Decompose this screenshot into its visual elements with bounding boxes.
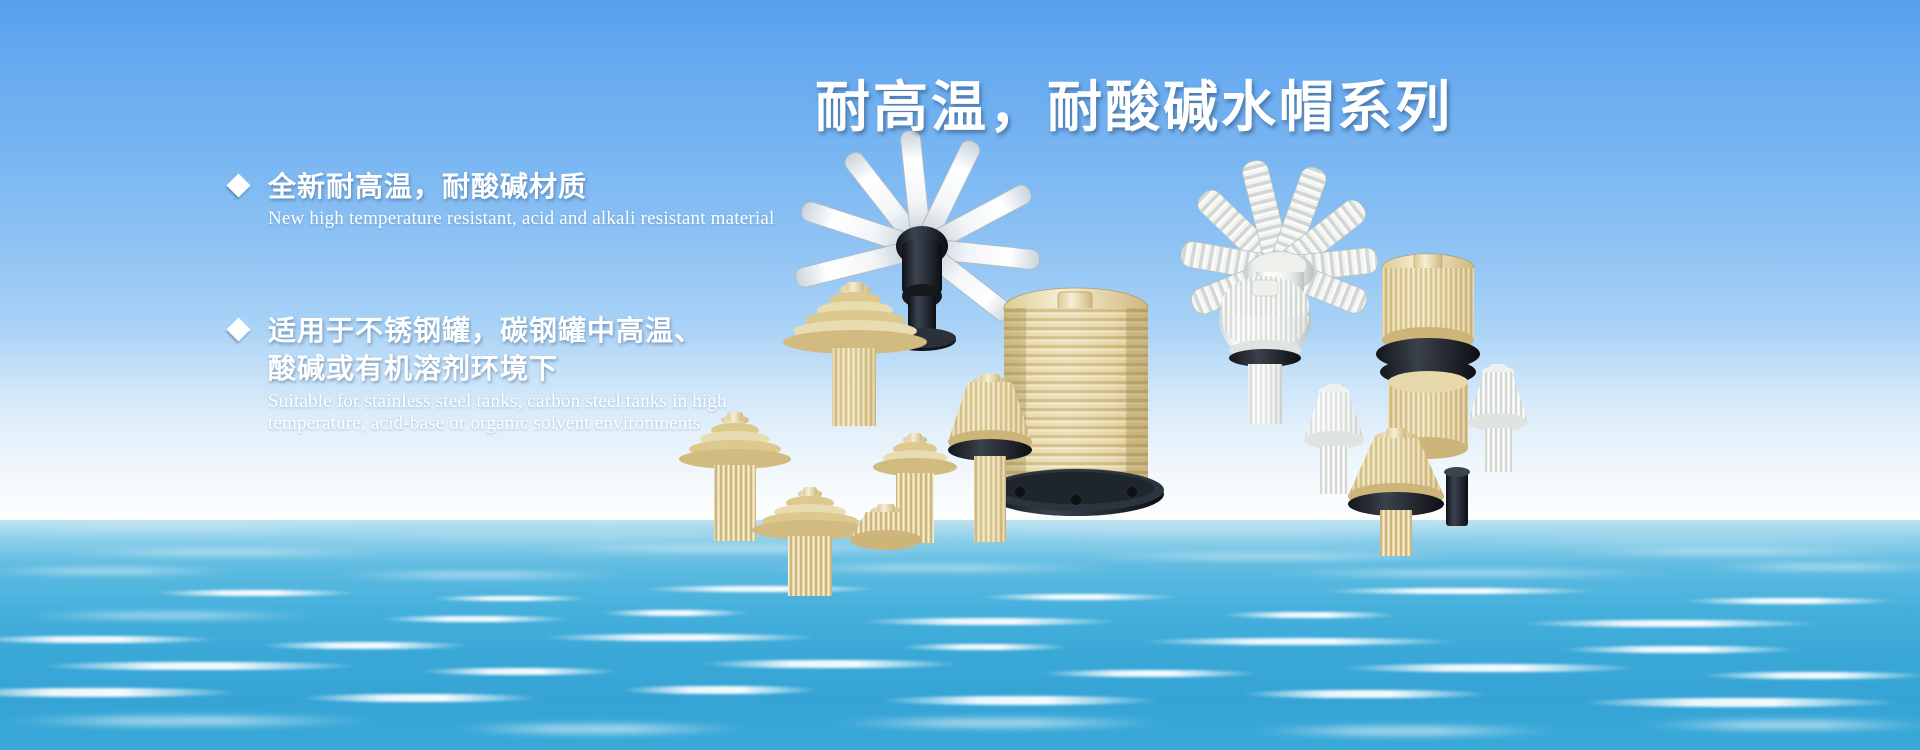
feature-2-cn-line1: 适用于不锈钢罐，碳钢罐中高温、 bbox=[268, 312, 703, 350]
dark-stem-right bbox=[1444, 467, 1470, 526]
small-cap-white-bottom bbox=[1304, 384, 1364, 494]
water-cap-product-cluster bbox=[680, 120, 1560, 540]
feature-2-en-line1: Suitable for stainless steel tanks, carb… bbox=[268, 391, 727, 413]
feature-item-2: 适用于不锈钢罐，碳钢罐中高温、 酸碱或有机溶剂环境下 Suitable for … bbox=[230, 312, 727, 435]
feature-2-cn-line2: 酸碱或有机溶剂环境下 bbox=[268, 350, 727, 388]
promo-banner: 耐高温，耐酸碱水帽系列 全新耐高温，耐酸碱材质 New high tempera… bbox=[0, 0, 1920, 750]
feature-1-cn-line1: 全新耐高温，耐酸碱材质 bbox=[268, 168, 587, 206]
feature-2-en-line2: temperature, acid-base or organic solven… bbox=[268, 413, 727, 435]
diamond-bullet-icon bbox=[226, 317, 250, 341]
water-background bbox=[0, 520, 1920, 750]
feature-1-en-line1: New high temperature resistant, acid and… bbox=[268, 208, 775, 230]
feature-item-1: 全新耐高温，耐酸碱材质 New high temperature resista… bbox=[230, 168, 775, 230]
diamond-bullet-icon bbox=[226, 173, 250, 197]
layered-cap-a bbox=[783, 282, 927, 426]
page-title: 耐高温，耐酸碱水帽系列 bbox=[815, 62, 1453, 142]
ball-cap-white bbox=[1219, 276, 1311, 424]
ribbed-cap-white-far-right bbox=[1468, 364, 1528, 472]
